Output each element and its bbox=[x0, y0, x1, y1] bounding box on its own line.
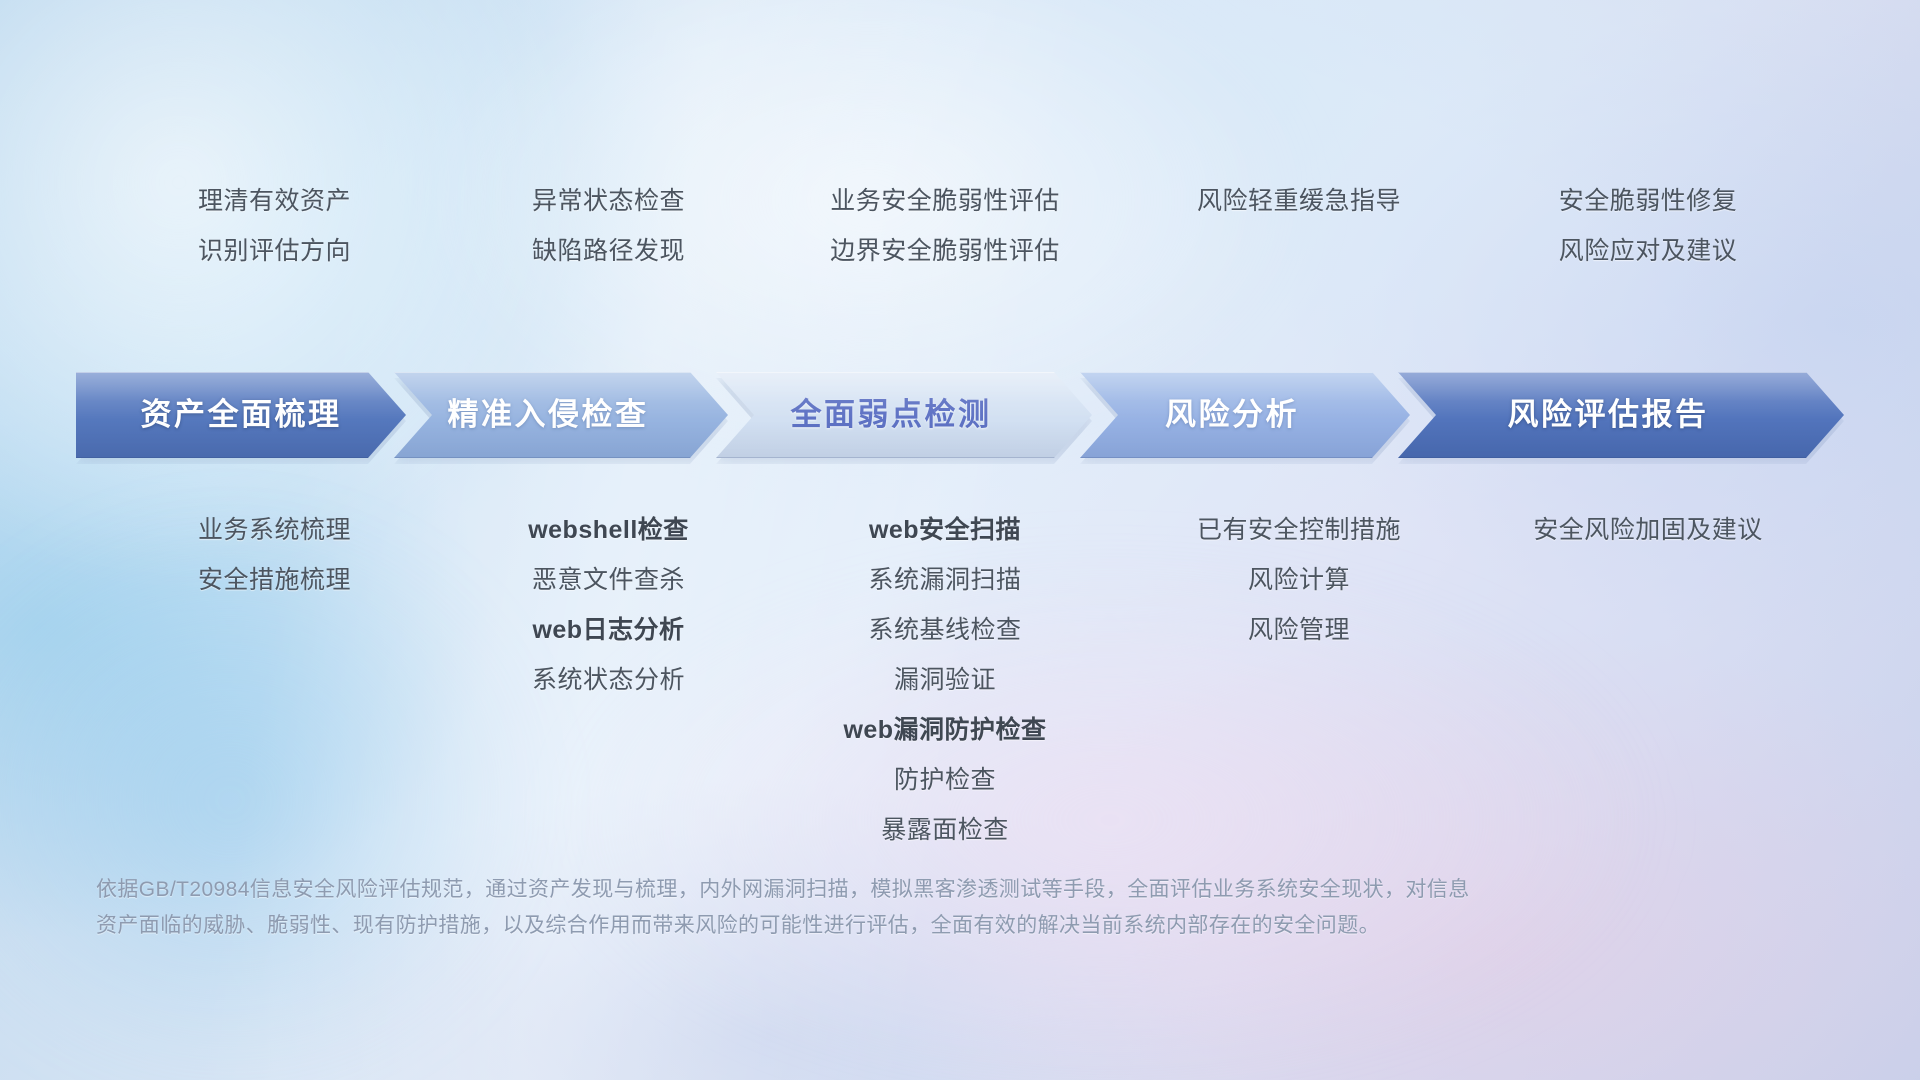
bottom-notes-stage-4: 已有安全控制措施 风险计算 风险管理 bbox=[1134, 505, 1464, 855]
top-notes-stage-4: 风险轻重缓急指导 bbox=[1134, 176, 1464, 276]
top-notes-stage-3: 业务安全脆弱性评估 边界安全脆弱性评估 bbox=[756, 176, 1134, 276]
footer-description: 依据GB/T20984信息安全风险评估规范，通过资产发现与梳理，内外网漏洞扫描，… bbox=[96, 872, 1656, 944]
note-item: 恶意文件查杀 bbox=[532, 555, 685, 605]
note-item: 识别评估方向 bbox=[198, 226, 351, 276]
note-item: 异常状态检查 bbox=[532, 176, 685, 226]
bottom-notes-stage-3: web安全扫描 系统漏洞扫描 系统基线检查 漏洞验证 web漏洞防护检查 防护检… bbox=[756, 505, 1134, 855]
note-item: web日志分析 bbox=[532, 605, 684, 655]
note-item: 业务安全脆弱性评估 bbox=[830, 176, 1060, 226]
note-item: 风险管理 bbox=[1248, 605, 1350, 655]
note-item: 暴露面检查 bbox=[881, 805, 1009, 855]
note-item: 安全措施梳理 bbox=[198, 555, 351, 605]
note-item: 系统基线检查 bbox=[868, 605, 1021, 655]
stage-title: 风险分析 bbox=[1080, 372, 1410, 458]
stage-chevron-band: 资产全面梳理 精准入侵检查 全面弱点检测 风险分析 风险评估报告 bbox=[76, 372, 1844, 458]
note-item: web安全扫描 bbox=[869, 505, 1021, 555]
stage-title: 全面弱点检测 bbox=[716, 372, 1092, 458]
bottom-notes-stage-1: 业务系统梳理 安全措施梳理 bbox=[88, 505, 461, 855]
note-item: 漏洞验证 bbox=[894, 655, 996, 705]
note-item: webshell检查 bbox=[528, 505, 689, 555]
note-item: 边界安全脆弱性评估 bbox=[830, 226, 1060, 276]
note-item: 风险轻重缓急指导 bbox=[1197, 176, 1401, 226]
top-notes-stage-2: 异常状态检查 缺陷路径发现 bbox=[461, 176, 756, 276]
bottom-notes-stage-2: webshell检查 恶意文件查杀 web日志分析 系统状态分析 bbox=[461, 505, 756, 855]
note-item: 理清有效资产 bbox=[198, 176, 351, 226]
note-item: 安全风险加固及建议 bbox=[1533, 505, 1763, 555]
stage-chevron-3[interactable]: 全面弱点检测 bbox=[716, 372, 1092, 458]
footer-line-2: 资产面临的威胁、脆弱性、现有防护措施，以及综合作用而带来风险的可能性进行评估，全… bbox=[96, 908, 1656, 944]
stage-chevron-5[interactable]: 风险评估报告 bbox=[1398, 372, 1844, 458]
note-item: 缺陷路径发现 bbox=[532, 226, 685, 276]
top-notes-row: 理清有效资产 识别评估方向 异常状态检查 缺陷路径发现 业务安全脆弱性评估 边界… bbox=[88, 176, 1832, 276]
footer-line-1: 依据GB/T20984信息安全风险评估规范，通过资产发现与梳理，内外网漏洞扫描，… bbox=[96, 872, 1656, 908]
note-item: 防护检查 bbox=[894, 755, 996, 805]
top-notes-stage-1: 理清有效资产 识别评估方向 bbox=[88, 176, 461, 276]
note-item: 业务系统梳理 bbox=[198, 505, 351, 555]
note-item: 系统漏洞扫描 bbox=[868, 555, 1021, 605]
stage-chevron-2[interactable]: 精准入侵检查 bbox=[394, 372, 728, 458]
stage-title: 风险评估报告 bbox=[1398, 372, 1844, 458]
stage-title: 精准入侵检查 bbox=[394, 372, 728, 458]
note-item: 风险计算 bbox=[1248, 555, 1350, 605]
top-notes-stage-5: 安全脆弱性修复 风险应对及建议 bbox=[1464, 176, 1832, 276]
stage-title: 资产全面梳理 bbox=[76, 372, 406, 458]
note-item: 风险应对及建议 bbox=[1559, 226, 1738, 276]
bottom-notes-stage-5: 安全风险加固及建议 bbox=[1464, 505, 1832, 855]
bottom-notes-row: 业务系统梳理 安全措施梳理 webshell检查 恶意文件查杀 web日志分析 … bbox=[88, 505, 1832, 855]
note-item: 安全脆弱性修复 bbox=[1559, 176, 1738, 226]
process-diagram: 理清有效资产 识别评估方向 异常状态检查 缺陷路径发现 业务安全脆弱性评估 边界… bbox=[0, 0, 1920, 1080]
note-item: web漏洞防护检查 bbox=[843, 705, 1046, 755]
note-item: 已有安全控制措施 bbox=[1197, 505, 1401, 555]
stage-chevron-4[interactable]: 风险分析 bbox=[1080, 372, 1410, 458]
stage-chevron-1[interactable]: 资产全面梳理 bbox=[76, 372, 406, 458]
note-item: 系统状态分析 bbox=[532, 655, 685, 705]
